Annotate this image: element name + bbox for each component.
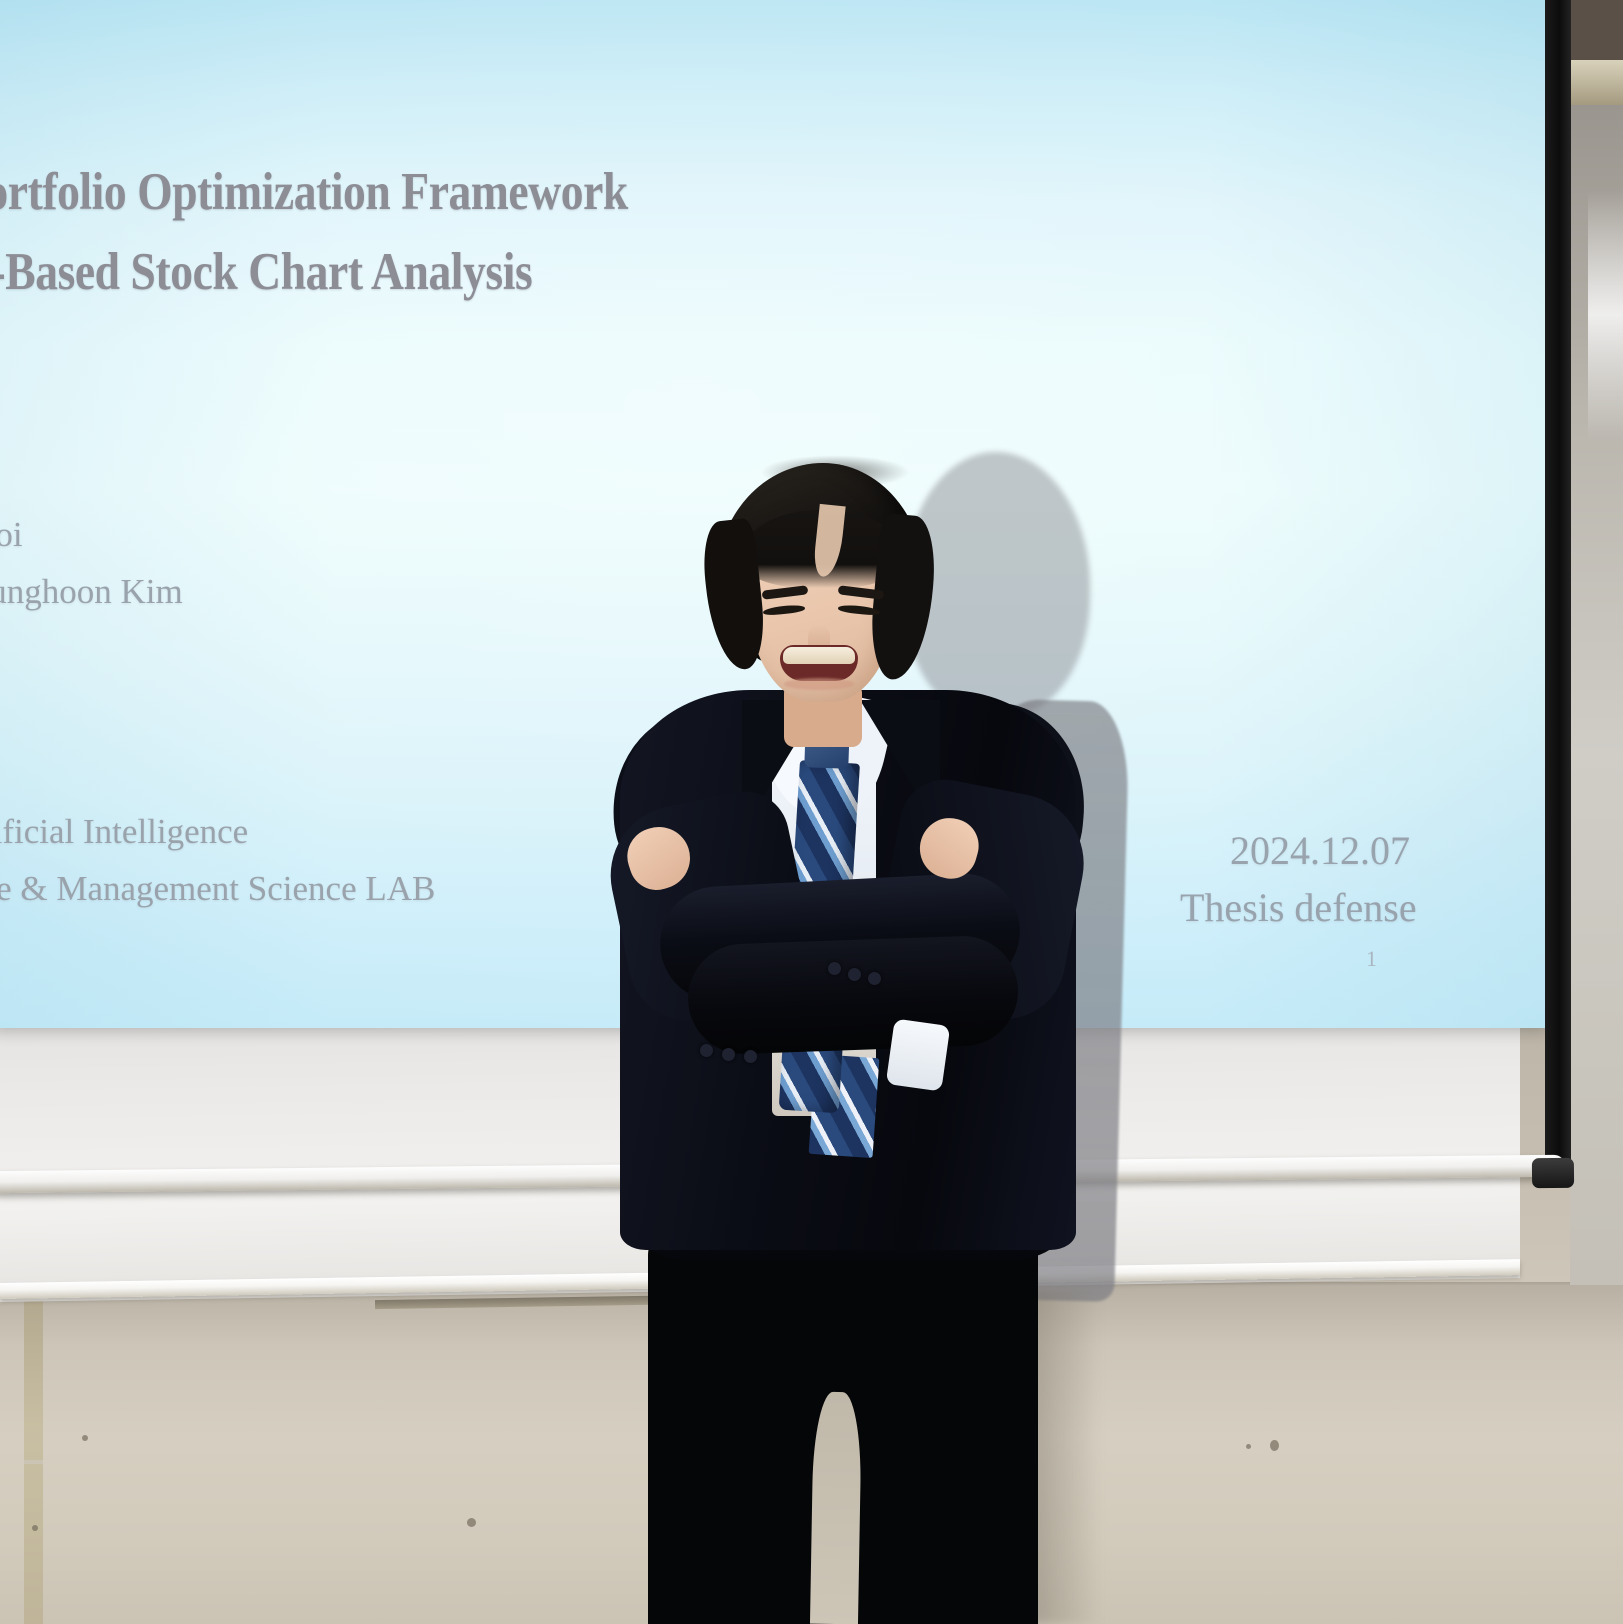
presenter-leg-gap: [810, 1392, 862, 1624]
sleeve-button-6: [744, 1050, 757, 1063]
sleeve-button-5: [722, 1048, 735, 1061]
presenter-leg-shadow: [1030, 1290, 1100, 1624]
presenter-teeth: [783, 647, 855, 664]
presenter-mouth: [780, 645, 858, 681]
presenter-crossed-forearm-lower: [686, 934, 1020, 1055]
presenter: [0, 0, 1623, 1624]
presenter-lower-lip: [784, 678, 854, 690]
sleeve-button-4: [700, 1044, 713, 1057]
presentation-photo: Portfolio Optimization Framework N-Based…: [0, 0, 1623, 1624]
sleeve-button-2: [848, 968, 861, 981]
sleeve-button-3: [868, 972, 881, 985]
presenter-shirt-cuff-right: [886, 1018, 951, 1091]
sleeve-button-1: [828, 962, 841, 975]
